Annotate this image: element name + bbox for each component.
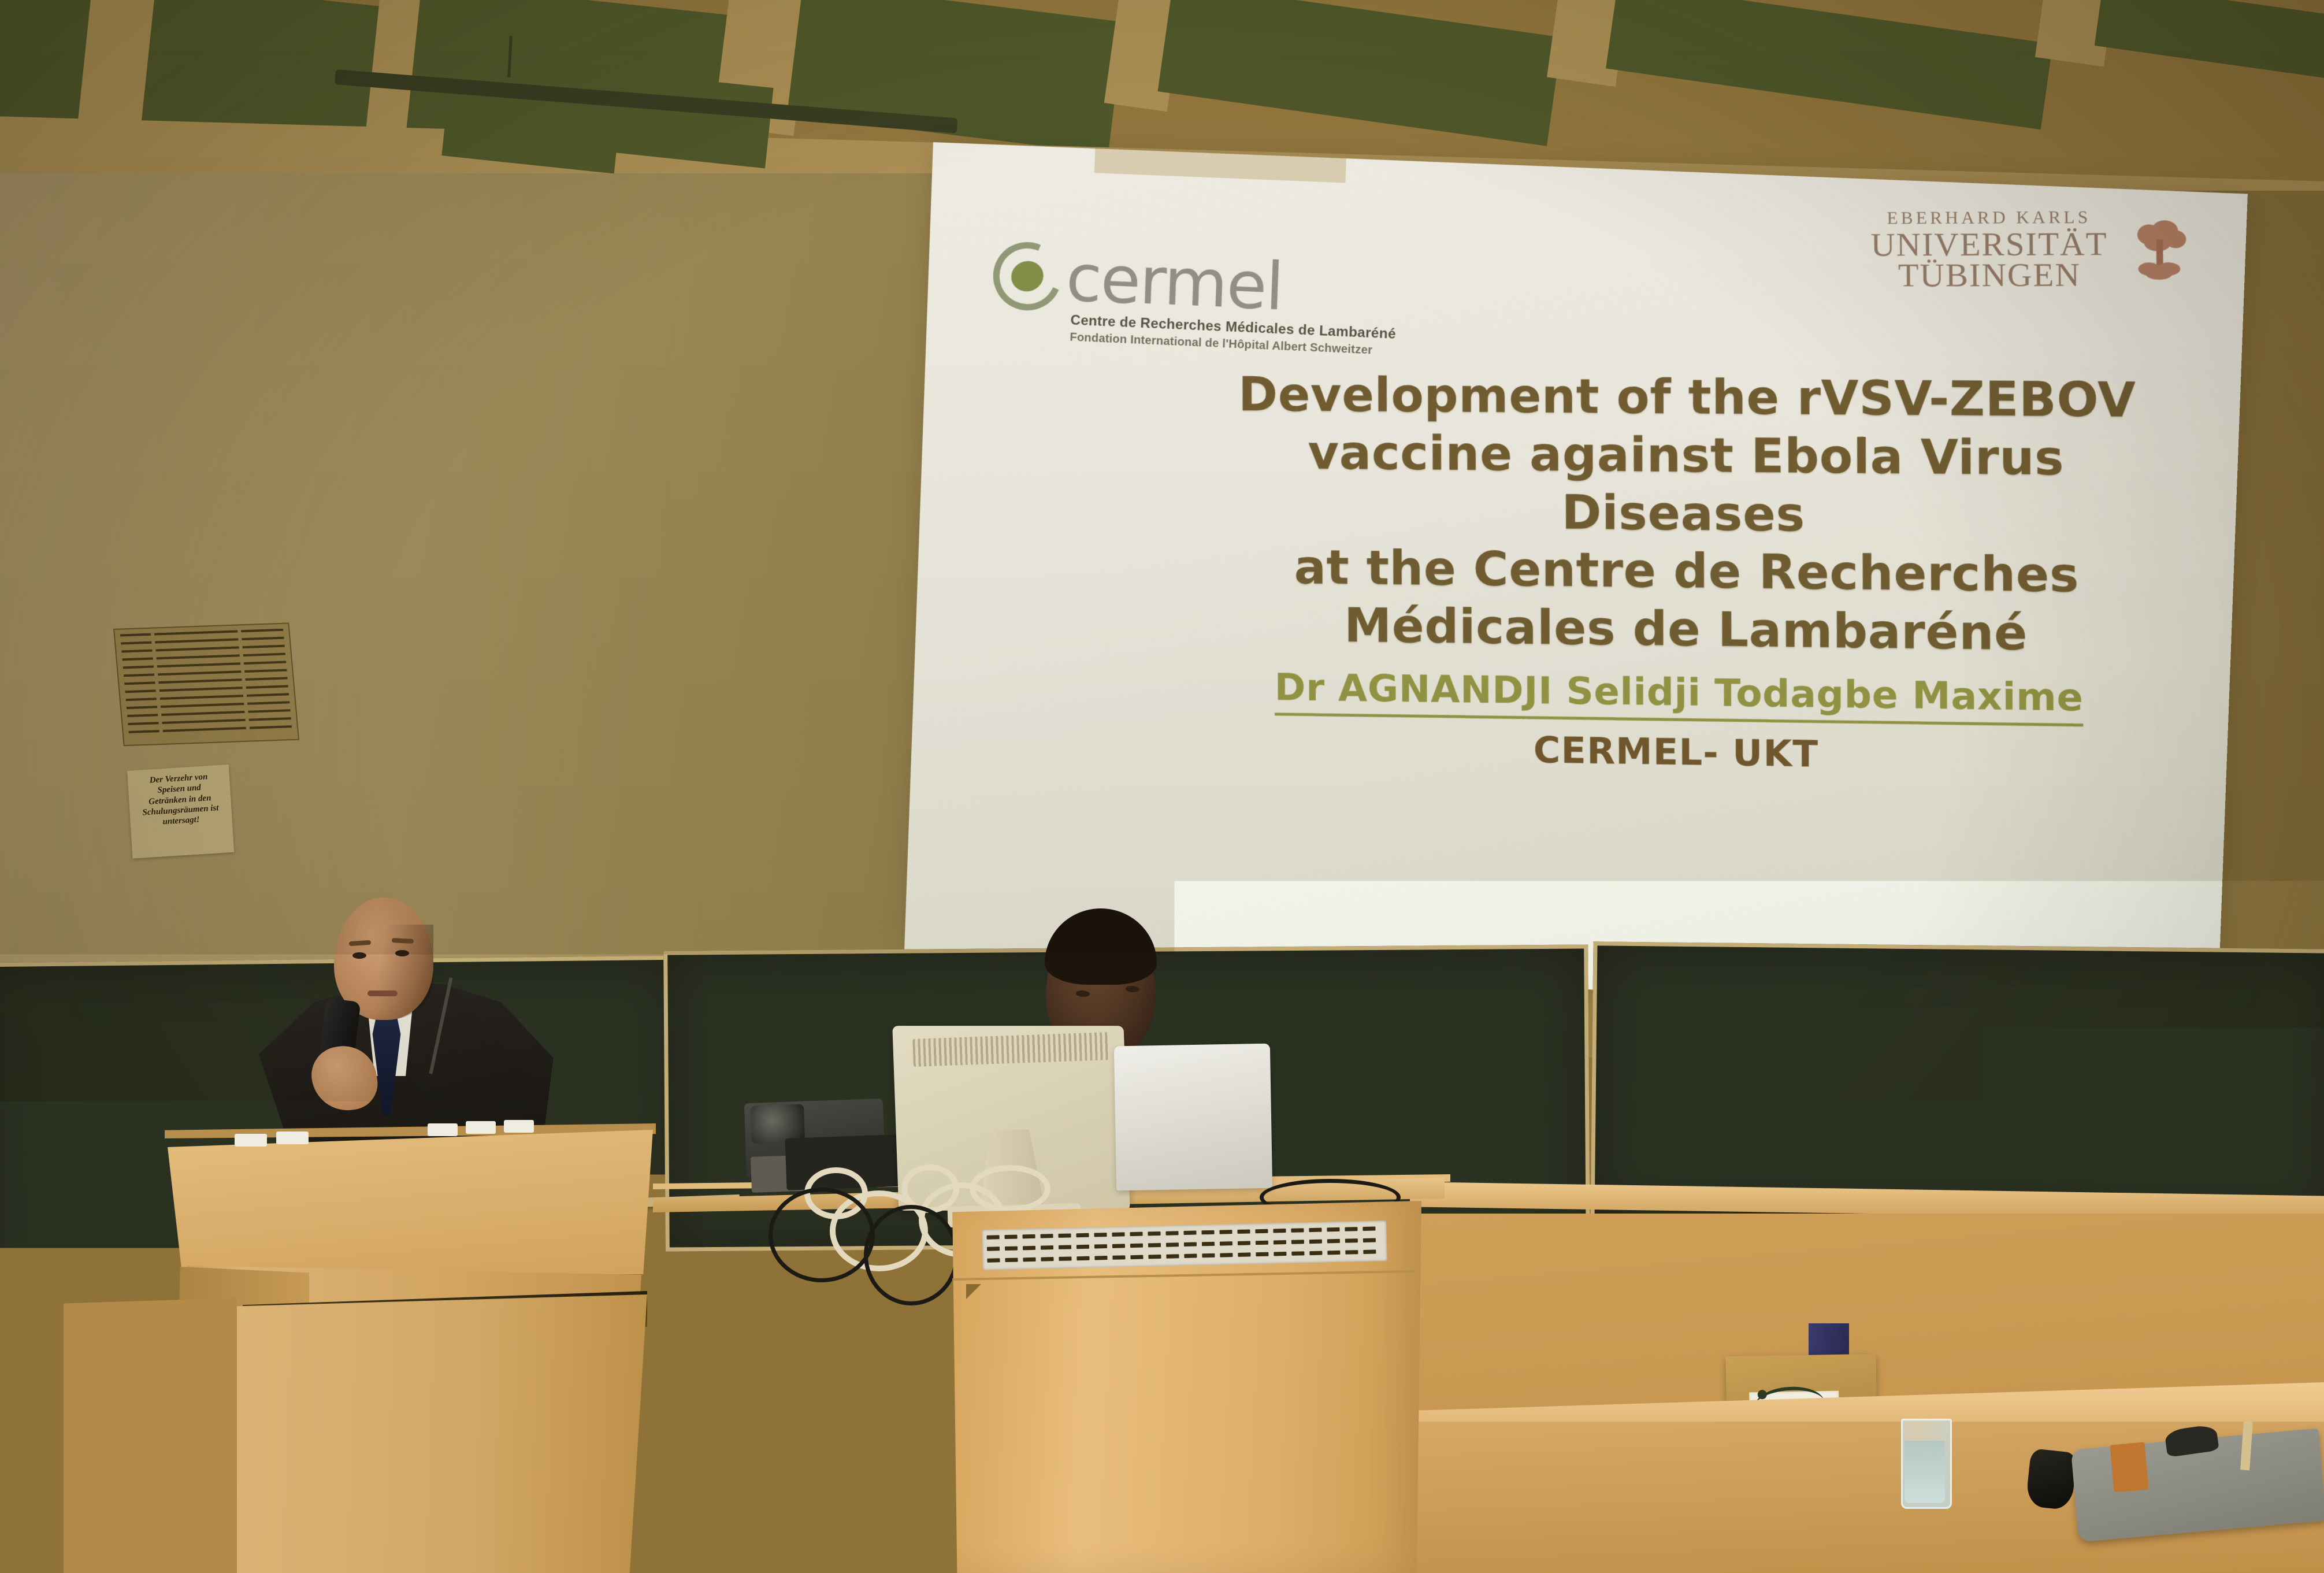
cable-coil	[970, 1165, 1050, 1212]
projection-screen: cermel Centre de Recherches Médicales de…	[933, 142, 2213, 951]
podium-base-side	[64, 1298, 237, 1573]
presentation-slide: cermel Centre de Recherches Médicales de…	[904, 142, 2248, 1026]
podium-control-button[interactable]	[428, 1123, 458, 1136]
cermel-logo: cermel Centre de Recherches Médicales de…	[991, 241, 1399, 359]
author-affiliation: CERMEL- UKT	[1215, 724, 2145, 780]
speaker-mouth	[367, 990, 398, 996]
tree-emblem-icon	[2130, 219, 2189, 281]
sleeve-orange-strap	[2110, 1442, 2149, 1493]
title-line-1: Development of the rVSV-ZEBOV	[1199, 366, 2177, 430]
water-in-glass	[1905, 1441, 1945, 1503]
uni-line-3: TÜBINGEN	[1871, 258, 2108, 292]
left-wall	[0, 173, 971, 1040]
podium-control-button[interactable]	[504, 1120, 534, 1133]
podium-control-button[interactable]	[235, 1134, 267, 1147]
slide-title: Development of the rVSV-ZEBOV vaccine ag…	[1199, 366, 2178, 665]
wall-air-vent-icon	[113, 622, 299, 746]
university-tuebingen-logo: EBERHARD KARLS UNIVERSITÄT TÜBINGEN	[1870, 208, 2190, 292]
lecture-hall-photo: Der Verzehr von Speisen und Getränken in…	[0, 0, 2324, 1573]
room-notice-sign: Der Verzehr von Speisen und Getränken in…	[127, 765, 234, 859]
dark-cable	[864, 1205, 959, 1305]
title-line-4: Médicales de Lambaréné	[1200, 596, 2178, 665]
silver-laptop	[1114, 1044, 1272, 1191]
uni-line-1: EBERHARD KARLS	[1870, 209, 2108, 227]
title-line-3: at the Centre de Recherches	[1199, 538, 2177, 606]
speaker-eye-right	[395, 950, 409, 956]
cermel-wordmark: cermel	[1065, 248, 1284, 316]
chalkboard-right	[1591, 941, 2324, 1226]
dark-cable	[769, 1188, 875, 1282]
title-line-2: vaccine against Ebola Virus Diseases	[1199, 424, 2177, 548]
author-name: Dr AGNANDJI Selidji Todagbe Maxime	[1275, 666, 2084, 727]
podium-control-button[interactable]	[466, 1121, 496, 1134]
speaker-eye-left	[352, 952, 366, 959]
cermel-mark-icon	[983, 232, 1072, 320]
podium-top-surface	[168, 1130, 653, 1274]
slide-author-block: Dr AGNANDJI Selidji Todagbe Maxime CERME…	[1215, 665, 2145, 780]
podium-control-button[interactable]	[276, 1131, 309, 1144]
